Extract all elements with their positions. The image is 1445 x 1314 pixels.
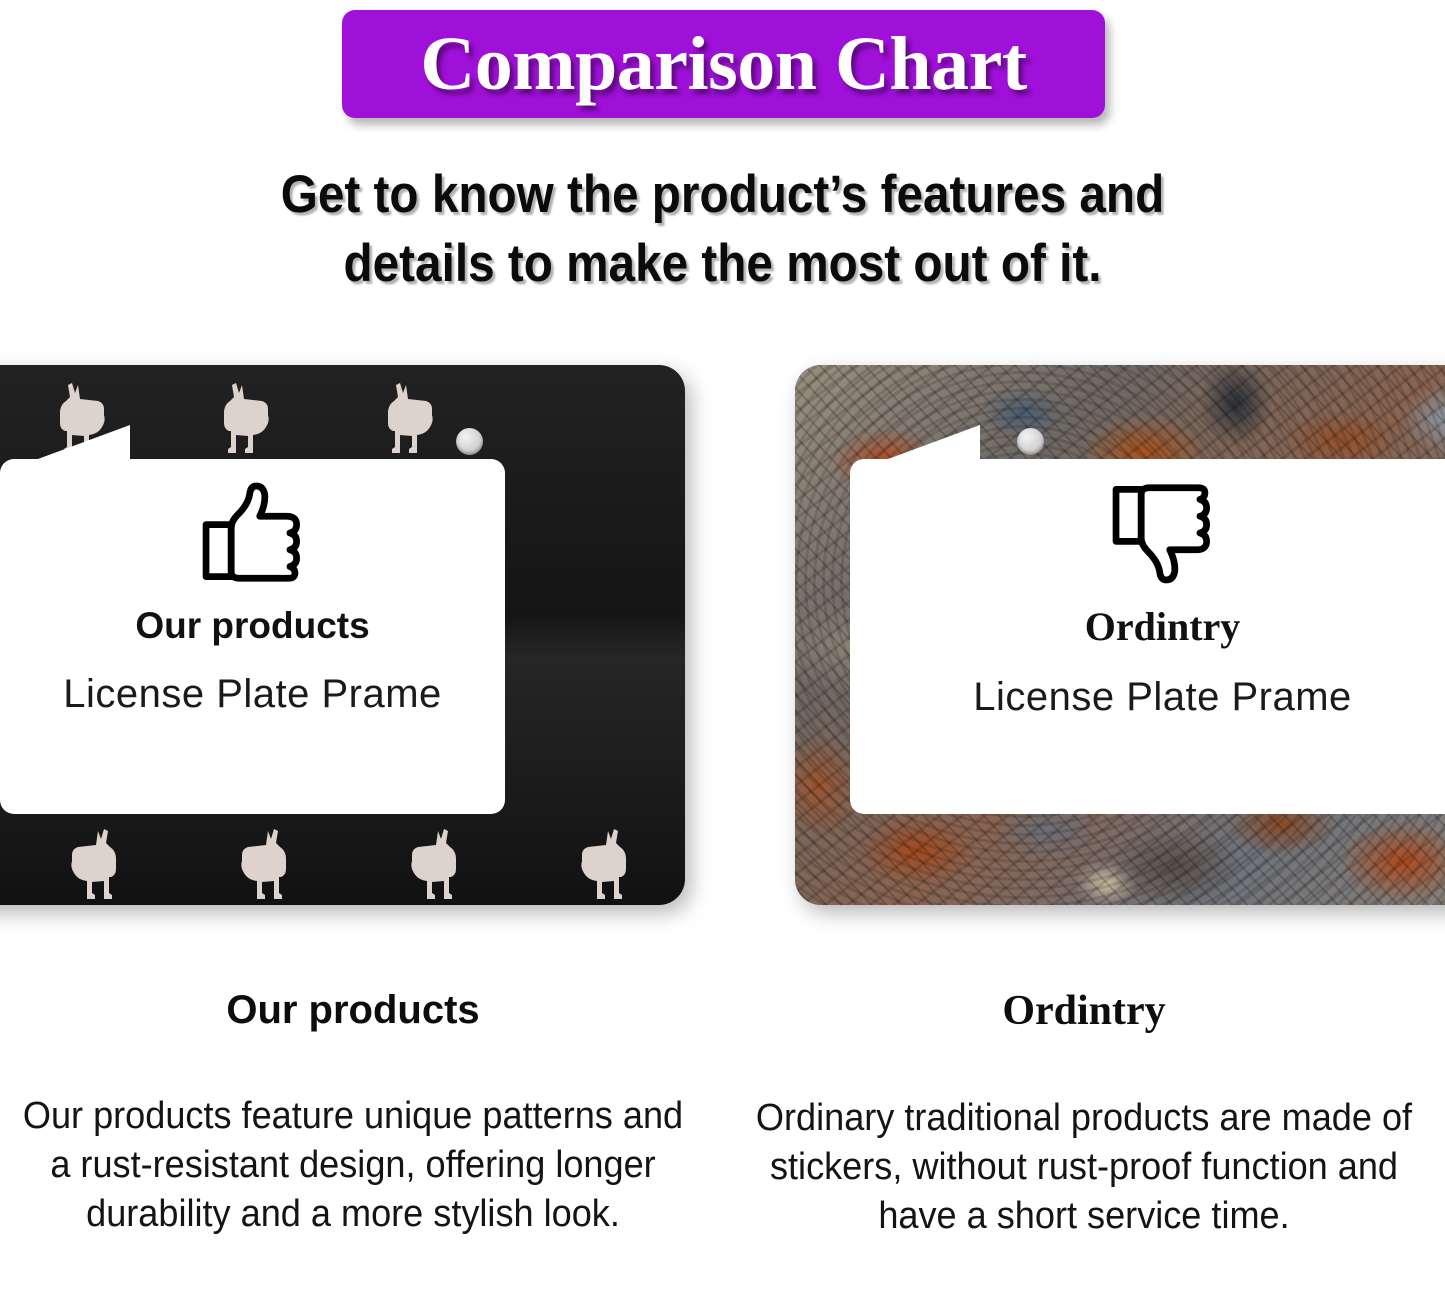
thumbs-down-icon bbox=[1109, 481, 1217, 585]
product-comparison-images: Our products License Plate Prame bbox=[0, 355, 1445, 920]
llama-icon bbox=[570, 825, 632, 901]
ordinary-product-description: Ordinary traditional products are made o… bbox=[741, 1094, 1427, 1241]
our-product-heading: Our products bbox=[0, 990, 714, 1030]
our-product-brand-label: Our products bbox=[135, 607, 369, 644]
ordinary-product-plate-window: Ordintry License Plate Prame bbox=[850, 459, 1445, 814]
ordinary-product-frame: Ordintry License Plate Prame bbox=[795, 365, 1445, 905]
ordinary-product-description-column: Ordintry Ordinary traditional products a… bbox=[723, 990, 1445, 1241]
page-subtitle: Get to know the product’s features and d… bbox=[72, 160, 1373, 298]
llama-pattern-row-top bbox=[0, 377, 444, 455]
title-banner: Comparison Chart bbox=[342, 10, 1105, 118]
mounting-hole bbox=[1017, 428, 1044, 455]
mounting-hole bbox=[456, 428, 483, 455]
our-product-product-label: License Plate Prame bbox=[63, 674, 442, 714]
ordinary-product-product-label: License Plate Prame bbox=[973, 677, 1352, 717]
ordinary-product-brand-label: Ordintry bbox=[1085, 607, 1241, 647]
thumbs-up-icon bbox=[199, 481, 307, 585]
subtitle-line-2: details to make the most out of it. bbox=[72, 229, 1373, 298]
comparison-descriptions: Our products Our products feature unique… bbox=[0, 990, 1445, 1314]
our-product-frame-body: Our products License Plate Prame bbox=[0, 365, 685, 905]
our-product-frame: Our products License Plate Prame bbox=[0, 365, 685, 905]
llama-icon bbox=[400, 825, 462, 901]
ordinary-product-frame-body: Ordintry License Plate Prame bbox=[795, 365, 1445, 905]
llama-icon bbox=[230, 825, 292, 901]
subtitle-line-1: Get to know the product’s features and bbox=[72, 160, 1373, 229]
llama-icon bbox=[382, 379, 444, 455]
llama-icon bbox=[60, 825, 122, 901]
ordinary-product-heading: Ordintry bbox=[723, 990, 1445, 1032]
our-product-plate-window: Our products License Plate Prame bbox=[0, 459, 505, 814]
our-product-description: Our products feature unique patterns and… bbox=[10, 1092, 696, 1239]
page-title: Comparison Chart bbox=[342, 10, 1105, 118]
llama-icon bbox=[218, 379, 280, 455]
llama-pattern-row-bottom bbox=[0, 821, 632, 901]
our-product-description-column: Our products Our products feature unique… bbox=[0, 990, 714, 1239]
